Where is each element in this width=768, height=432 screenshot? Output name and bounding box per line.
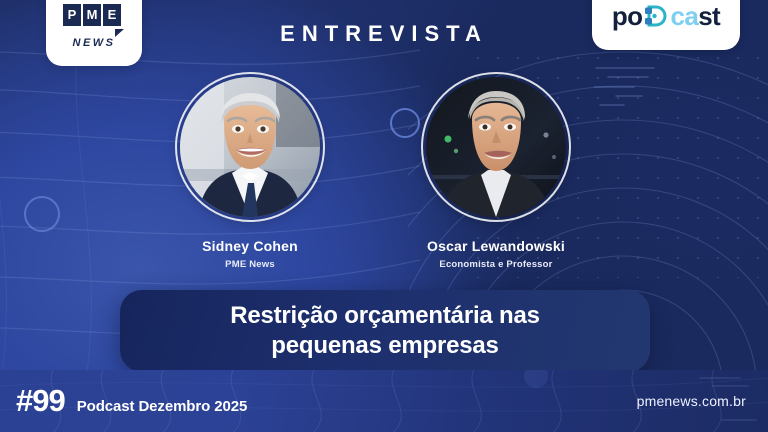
avatar-ring [175,72,325,222]
speaker-role: PME News [140,259,360,270]
headline-line-1: Restrição orçamentária nas [230,302,540,329]
footer-episode: #99 Podcast Dezembro 2025 [16,383,247,419]
episode-number: #99 [16,383,65,419]
website-link[interactable]: pmenews.com.br [637,393,746,409]
podcast-cover-card: P M E NEWS po ca st ENTREVISTA [0,0,768,432]
episode-label: Podcast Dezembro 2025 [77,398,247,415]
headline-panel: Restrição orçamentária nas pequenas empr… [120,290,650,372]
speaker-name: Sidney Cohen [140,238,360,254]
avatar-ring [421,72,571,222]
headline-text: Restrição orçamentária nas pequenas empr… [204,301,566,361]
speaker-name: Oscar Lewandowski [386,238,606,254]
circle-outline-decoration [24,196,60,232]
headline-line-2: pequenas empresas [271,332,498,359]
speaker-card-2: Oscar Lewandowski Economista e Professor [386,72,606,270]
dash-lines-decoration [594,62,714,112]
speaker-role: Economista e Professor [386,259,606,270]
footer-bar: #99 Podcast Dezembro 2025 pmenews.com.br [0,370,768,432]
page-title: ENTREVISTA [0,21,768,47]
speaker-card-1: Sidney Cohen PME News [140,72,360,270]
